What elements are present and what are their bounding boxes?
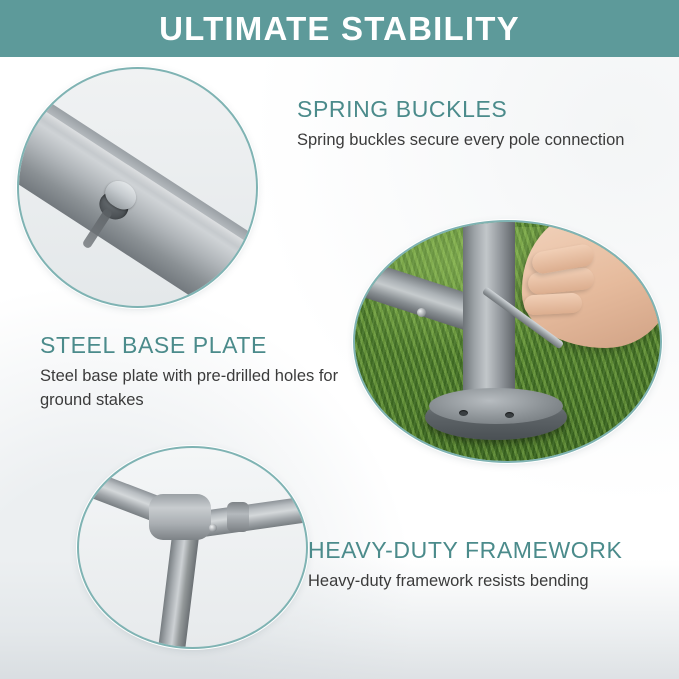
callout-body-spring-buckles: Spring buckles secure every pole connect… (297, 129, 627, 152)
framework-photo (79, 448, 306, 647)
page-title: ULTIMATE STABILITY (159, 12, 520, 45)
product-feature-graphic: ULTIMATE STABILITY SPRING BUCKLES Spring… (0, 0, 679, 679)
finger (524, 292, 583, 315)
callout-title-steel-base-plate: STEEL BASE PLATE (40, 333, 350, 358)
framework-rivet-icon (209, 524, 217, 532)
callout-steel-base-plate: STEEL BASE PLATE Steel base plate with p… (40, 333, 350, 412)
callout-body-steel-base-plate: Steel base plate with pre-drilled holes … (40, 365, 350, 412)
callout-title-heavy-duty-framework: HEAVY-DUTY FRAMEWORK (308, 538, 658, 563)
framework-collar (227, 502, 249, 532)
base-plate-surface (429, 388, 563, 424)
callout-spring-buckles: SPRING BUCKLES Spring buckles secure eve… (297, 97, 627, 153)
framework-joint (149, 494, 211, 540)
buckle-slot (82, 208, 114, 250)
pole-illustration (19, 82, 256, 306)
callout-body-heavy-duty-framework: Heavy-duty framework resists bending (308, 570, 658, 593)
pole-rivet-icon (417, 308, 426, 317)
steel-base-plate-photo (355, 222, 660, 461)
predrilled-hole (505, 412, 514, 418)
predrilled-hole (459, 410, 468, 416)
callout-title-spring-buckles: SPRING BUCKLES (297, 97, 627, 122)
callout-heavy-duty-framework: HEAVY-DUTY FRAMEWORK Heavy-duty framewor… (308, 538, 658, 594)
header-banner: ULTIMATE STABILITY (0, 0, 679, 57)
spring-buckle-photo (19, 69, 256, 306)
